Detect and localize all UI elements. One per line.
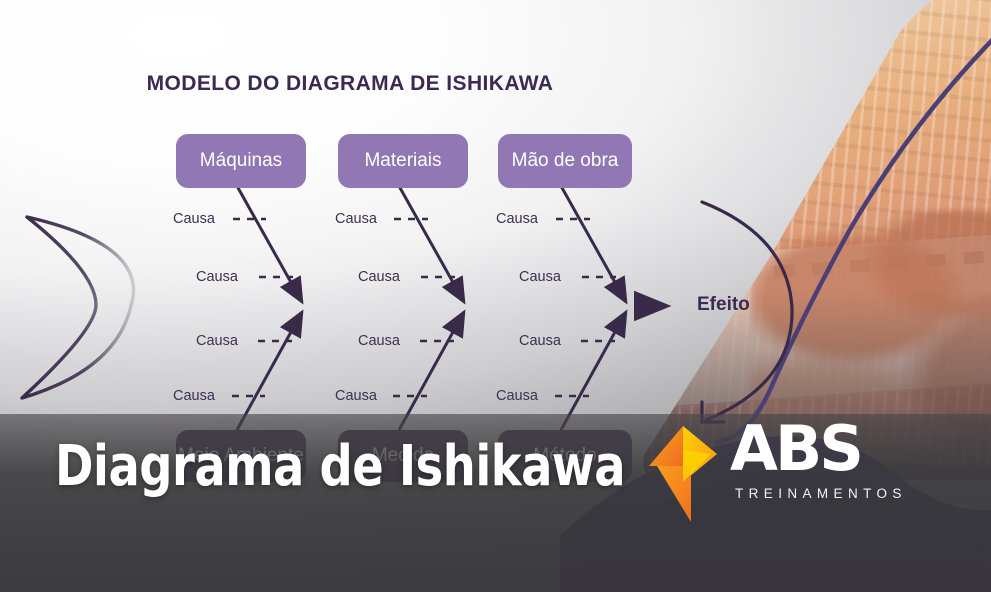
abs-wordmark: ABS	[730, 418, 861, 480]
lightning-bolt-icon	[645, 424, 725, 524]
branch-bone-bottom-1	[237, 312, 302, 430]
branch-bone-top-2	[399, 186, 464, 302]
category-box-maquinas[interactable]: Máquinas	[176, 134, 306, 188]
fish-head-bracket	[660, 196, 820, 426]
cause-label-bottom-2a: Causa	[358, 333, 400, 349]
category-box-mao-de-obra[interactable]: Mão de obra	[498, 134, 632, 188]
cause-label-bottom-1b: Causa	[173, 388, 215, 404]
abs-tagline: TREINAMENTOS	[735, 486, 907, 501]
poster-headline: Diagrama de Ishikawa	[55, 434, 625, 499]
cause-label-bottom-3b: Causa	[496, 388, 538, 404]
branch-bone-bottom-3	[561, 312, 626, 430]
category-box-materiais[interactable]: Materiais	[338, 134, 468, 188]
branch-bone-top-1	[237, 186, 302, 302]
cause-label-bottom-2b: Causa	[335, 388, 377, 404]
poster-canvas: MODELO DO DIAGRAMA DE ISHIKAWA	[0, 0, 991, 592]
cause-label-top-2a: Causa	[335, 211, 377, 227]
cause-label-top-2b: Causa	[358, 269, 400, 285]
branch-bone-top-3	[561, 186, 626, 302]
cause-label-bottom-1a: Causa	[196, 333, 238, 349]
cause-label-top-1a: Causa	[173, 211, 215, 227]
category-label: Máquinas	[200, 151, 282, 172]
branch-bone-bottom-2	[399, 312, 464, 430]
cause-label-top-3b: Causa	[519, 269, 561, 285]
cause-label-bottom-3a: Causa	[519, 333, 561, 349]
category-label: Mão de obra	[512, 151, 619, 172]
abs-logo[interactable]: ABS TREINAMENTOS	[645, 424, 905, 524]
cause-label-top-3a: Causa	[496, 211, 538, 227]
cause-label-top-1b: Causa	[196, 269, 238, 285]
category-label: Materiais	[364, 151, 441, 172]
